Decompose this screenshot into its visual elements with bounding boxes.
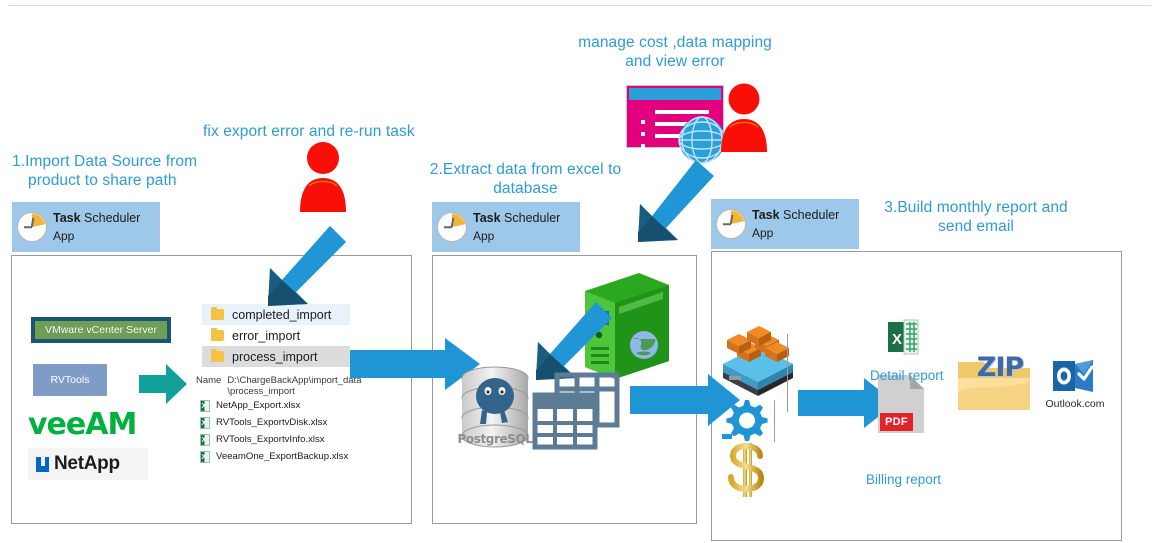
source-label: NetApp: [54, 453, 120, 475]
scheduler-title-rest-2: Scheduler: [501, 211, 561, 225]
excel-icon: X: [888, 320, 918, 354]
file-row[interactable]: RVTools_ExportvDisk.xlsx: [200, 414, 400, 431]
list-line: [655, 110, 709, 114]
excel-file-icon: [200, 434, 210, 446]
svg-text:X: X: [892, 331, 902, 348]
clock-icon: [716, 209, 746, 239]
source-rvtools[interactable]: RVTools: [33, 364, 107, 396]
source-label: VMware vCenter Server: [45, 324, 157, 336]
path-line1: D:\ChargeBackApp\import_data: [227, 375, 361, 386]
scheduler-title-bold-2: Task: [473, 211, 501, 225]
step1-caption-line1: 1.Import Data Source from: [12, 152, 227, 171]
step1-caption-line2: product to share path: [12, 171, 227, 190]
arrow-fix-export-icon: [252, 222, 347, 322]
clock-icon: [17, 212, 47, 242]
panel3-divider-vertical: [787, 334, 788, 412]
gear-icon: [722, 396, 768, 442]
step3-caption-line2: send email: [866, 217, 1086, 236]
dollar-money-icon: [727, 443, 767, 497]
pdf-badge: PDF: [880, 413, 913, 431]
step1-caption: 1.Import Data Source from product to sha…: [12, 152, 227, 190]
top-divider: [8, 5, 1151, 6]
scheduler-title-bold-1: Task: [53, 211, 81, 225]
fix-export-annotation: fix export error and re-run task: [203, 122, 453, 141]
vmware-host-rack-icon: [719, 324, 797, 396]
source-veeam-logo[interactable]: veeAM: [28, 408, 148, 440]
list-bullet: [641, 132, 645, 136]
file-row[interactable]: RVTools_ExportvInfo.xlsx: [200, 431, 400, 448]
teal-arrow-icon: [139, 362, 187, 406]
postgresql-label: PostgreSQL: [452, 432, 538, 446]
manage-cost-annotation: manage cost ,data mapping and view error: [555, 33, 795, 71]
task-scheduler-badge-1[interactable]: Task Scheduler App: [12, 202, 160, 252]
step2-caption: 2.Extract data from excel to database: [418, 160, 633, 198]
manage-cost-line2: and view error: [555, 52, 795, 71]
file-name: RVTools_ExportvInfo.xlsx: [216, 434, 325, 445]
list-bullet: [641, 144, 645, 148]
billing-report-label: Billing report: [866, 472, 941, 487]
source-vmware-vcenter[interactable]: VMware vCenter Server: [31, 317, 171, 343]
source-label: veeAM: [28, 407, 136, 442]
task-scheduler-badge-3[interactable]: Task Scheduler App: [711, 199, 859, 249]
clock-icon: [437, 212, 467, 242]
excel-file-icon: [200, 451, 210, 463]
step2-caption-line1: 2.Extract data from excel to: [418, 160, 633, 179]
source-label: RVTools: [51, 374, 90, 386]
scheduler-subtitle-3: App: [752, 226, 839, 241]
path-field: Name D:\ChargeBackApp\import_data \proce…: [196, 375, 371, 397]
data-table-icon: [535, 375, 617, 447]
folder-icon: [211, 330, 224, 341]
scheduler-title-rest-3: Scheduler: [780, 208, 840, 222]
path-line2: \process_import: [227, 386, 295, 397]
folder-icon: [211, 309, 224, 320]
step3-caption: 3.Build monthly report and send email: [866, 198, 1086, 236]
netapp-mark-icon: [36, 457, 49, 472]
folder-row[interactable]: error_import: [202, 325, 350, 346]
folder-label: process_import: [232, 350, 317, 364]
file-row[interactable]: NetApp_Export.xlsx: [200, 397, 400, 414]
file-name: VeeamOne_ExportBackup.xlsx: [216, 451, 348, 462]
arrow-web-to-server-icon: [620, 160, 720, 265]
list-bullet: [641, 120, 645, 124]
user-person-icon-1: [295, 140, 351, 212]
folder-row[interactable]: process_import: [202, 346, 350, 367]
user-person-icon-2: [716, 82, 772, 152]
manage-cost-line1: manage cost ,data mapping: [555, 33, 795, 52]
scheduler-title-rest-1: Scheduler: [81, 211, 141, 225]
task-scheduler-badge-2[interactable]: Task Scheduler App: [432, 202, 580, 252]
file-list: NetApp_Export.xlsx RVTools_ExportvDisk.x…: [200, 397, 400, 465]
zip-label: ZIP: [965, 352, 1035, 383]
step3-caption-line1: 3.Build monthly report and: [866, 198, 1086, 217]
panel3-divider-vertical-2: [774, 400, 775, 442]
folder-icon: [211, 351, 224, 362]
file-name: NetApp_Export.xlsx: [216, 400, 300, 411]
path-field-label: Name: [196, 375, 221, 397]
scheduler-subtitle-1: App: [53, 229, 140, 244]
file-row[interactable]: VeeamOne_ExportBackup.xlsx: [200, 448, 400, 465]
window-title-bar: [629, 88, 721, 100]
detail-report-label: Detail report: [870, 368, 944, 383]
folder-label: error_import: [232, 329, 300, 343]
excel-file-icon: [200, 417, 210, 429]
excel-file-icon: [200, 400, 210, 412]
outlook-icon: [1053, 358, 1093, 394]
file-name: RVTools_ExportvDisk.xlsx: [216, 417, 327, 428]
outlook-label: Outlook.com: [1040, 398, 1110, 410]
scheduler-subtitle-2: App: [473, 229, 560, 244]
scheduler-title-bold-3: Task: [752, 208, 780, 222]
source-netapp-logo[interactable]: NetApp: [28, 448, 148, 480]
server-globe-icon: [629, 330, 659, 360]
step2-caption-line2: database: [418, 179, 633, 198]
